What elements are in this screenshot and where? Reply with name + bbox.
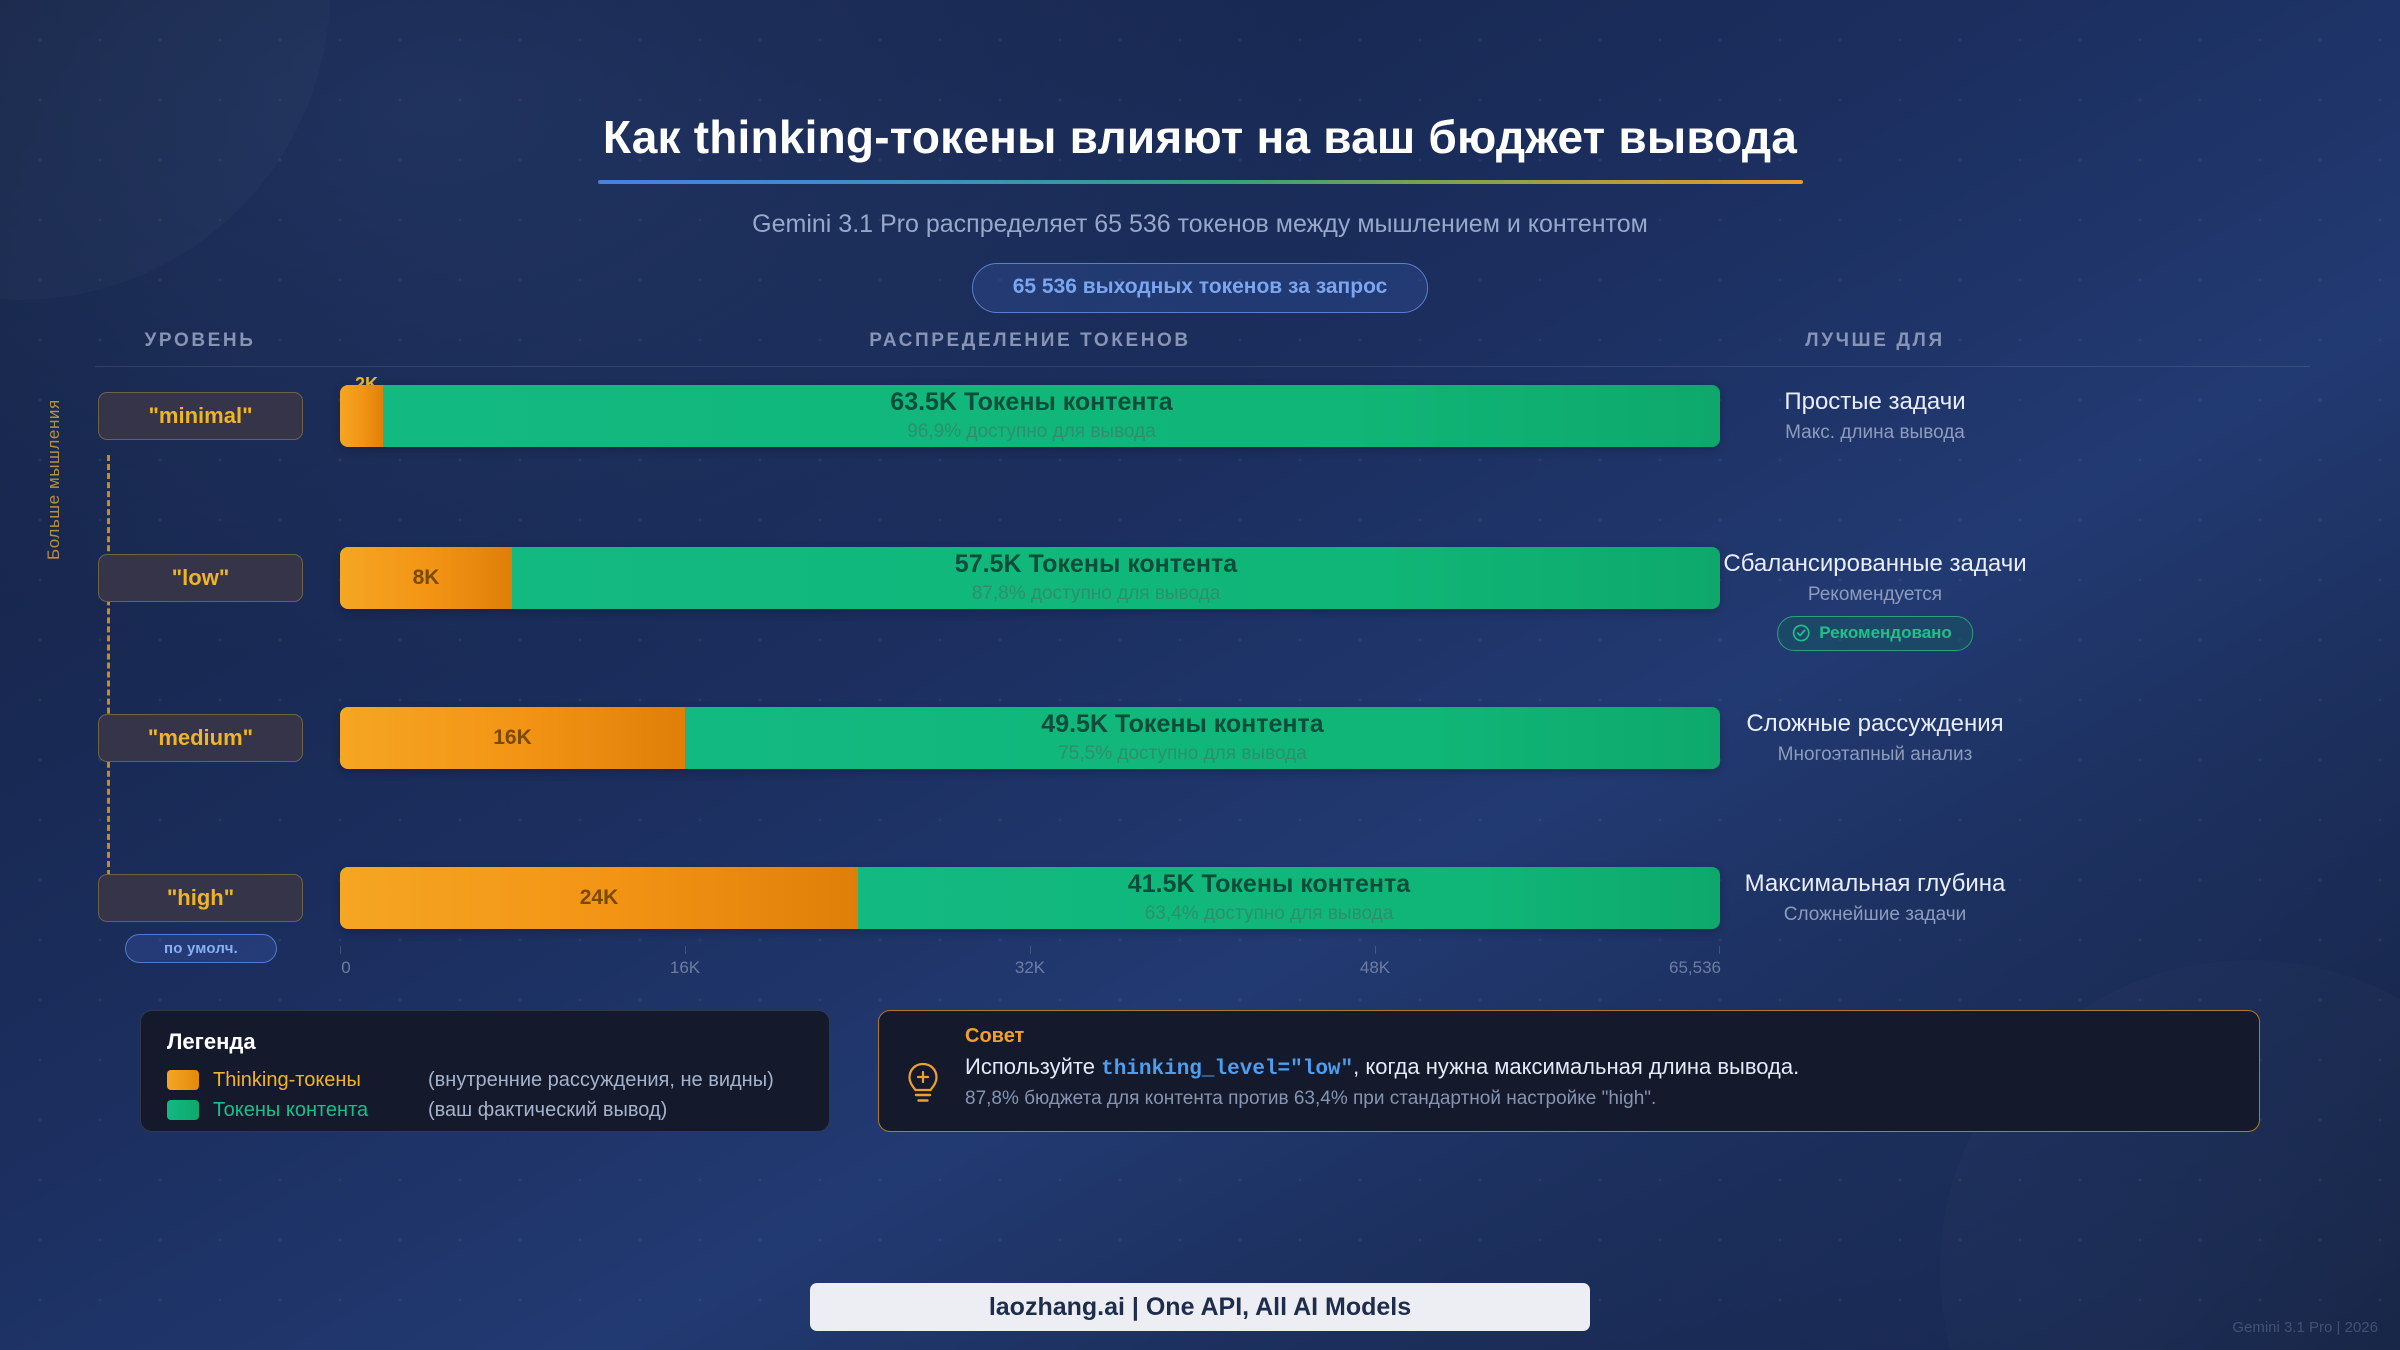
- best-for-title: Максимальная глубина: [1745, 870, 2006, 898]
- x-tick-16k: 16K: [670, 958, 700, 978]
- infographic-canvas: Как thinking-токены влияют на ваш бюджет…: [0, 0, 2400, 1350]
- legend-swatch-thinking: [167, 1070, 199, 1090]
- legend-item-thinking: Thinking-токены (внутренние рассуждения,…: [167, 1065, 803, 1095]
- bar-segment-content: 41.5K Токены контента 63,4% доступно для…: [858, 867, 1720, 929]
- legend-box: Легенда Thinking-токены (внутренние расс…: [140, 1010, 830, 1132]
- legend-swatch-content: [167, 1100, 199, 1120]
- bar-minimal[interactable]: 63.5K Токены контента 96,9% доступно для…: [340, 385, 1720, 447]
- footer-brand-bar[interactable]: laozhang.ai | One API, All AI Models: [810, 1283, 1590, 1331]
- default-badge: по умолч.: [125, 934, 277, 963]
- more-thinking-axis-line: [107, 455, 110, 885]
- best-for-title: Простые задачи: [1784, 388, 1965, 416]
- tip-main-text: Используйте thinking_level="low", когда …: [965, 1054, 2235, 1081]
- best-for-subtitle: Многоэтапный анализ: [1778, 744, 1973, 766]
- thinking-tokens-label: 8K: [413, 566, 440, 590]
- best-for-title: Сложные рассуждения: [1746, 710, 2003, 738]
- content-percent-label: 63,4% доступно для вывода: [1145, 901, 1394, 927]
- x-tick-48k: 48K: [1360, 958, 1390, 978]
- check-circle-icon: [1792, 624, 1810, 642]
- thinking-tokens-label: 24K: [580, 886, 619, 910]
- legend-name-content: Токены контента: [213, 1099, 428, 1122]
- x-axis: 0 16K 32K 48K 65,536: [340, 948, 1720, 982]
- bar-high[interactable]: 24K 41.5K Токены контента 63,4% доступно…: [340, 867, 1720, 929]
- tip-text-before: Используйте: [965, 1054, 1101, 1079]
- bar-low[interactable]: 8K 57.5K Токены контента 87,8% доступно …: [340, 547, 1720, 609]
- level-chip-minimal[interactable]: "minimal": [98, 392, 303, 440]
- best-for-subtitle: Рекомендуется: [1808, 584, 1942, 606]
- best-for-subtitle: Макс. длина вывода: [1785, 422, 1965, 444]
- legend-desc-content: (ваш фактический вывод): [428, 1099, 667, 1122]
- x-tick-32k: 32K: [1015, 958, 1045, 978]
- x-tick-max: 65,536: [1669, 958, 1721, 978]
- legend-item-content: Токены контента (ваш фактический вывод): [167, 1095, 803, 1125]
- content-tokens-label: 57.5K Токены контента: [955, 550, 1237, 578]
- x-tick-0: 0: [341, 958, 350, 978]
- recommended-badge-label: Рекомендовано: [1819, 623, 1952, 643]
- legend-desc-thinking: (внутренние рассуждения, не видны): [428, 1069, 774, 1092]
- bar-segment-content: 63.5K Токены контента 96,9% доступно для…: [383, 385, 1720, 447]
- bar-medium[interactable]: 16K 49.5K Токены контента 75,5% доступно…: [340, 707, 1720, 769]
- lightbulb-icon: [903, 1061, 943, 1109]
- thinking-tokens-label: 16K: [493, 726, 532, 750]
- level-chip-medium[interactable]: "medium": [98, 714, 303, 762]
- bar-segment-content: 57.5K Токены контента 87,8% доступно для…: [512, 547, 1720, 609]
- footer-brand-label: laozhang.ai | One API, All AI Models: [989, 1293, 1411, 1322]
- best-for-subtitle: Сложнейшие задачи: [1784, 904, 1967, 926]
- bar-segment-thinking: [340, 385, 383, 447]
- content-tokens-label: 63.5K Токены контента: [890, 388, 1172, 416]
- bar-segment-thinking: 24K: [340, 867, 858, 929]
- bar-segment-content: 49.5K Токены контента 75,5% доступно для…: [685, 707, 1720, 769]
- token-distribution-chart: Больше мышления 2K "minimal" 63.5K Токен…: [0, 0, 2400, 1350]
- tip-sub-text: 87,8% бюджета для контента против 63,4% …: [965, 1088, 2235, 1110]
- level-chip-high[interactable]: "high": [98, 874, 303, 922]
- level-chip-low[interactable]: "low": [98, 554, 303, 602]
- content-tokens-label: 41.5K Токены контента: [1128, 870, 1410, 898]
- more-thinking-label: Больше мышления: [44, 399, 64, 560]
- watermark: Gemini 3.1 Pro | 2026: [2232, 1319, 2378, 1336]
- best-for-title: Сбалансированные задачи: [1723, 550, 2026, 578]
- content-tokens-label: 49.5K Токены контента: [1041, 710, 1323, 738]
- tip-title: Совет: [965, 1025, 2235, 1048]
- tip-code-snippet: thinking_level="low": [1101, 1058, 1353, 1081]
- content-percent-label: 75,5% доступно для вывода: [1058, 741, 1307, 767]
- bar-segment-thinking: 16K: [340, 707, 685, 769]
- legend-title: Легенда: [167, 1029, 803, 1055]
- bar-segment-thinking: 8K: [340, 547, 512, 609]
- content-percent-label: 87,8% доступно для вывода: [972, 581, 1221, 607]
- tip-box: Совет Используйте thinking_level="low", …: [878, 1010, 2260, 1132]
- legend-name-thinking: Thinking-токены: [213, 1069, 428, 1092]
- tip-text-after: , когда нужна максимальная длина вывода.: [1353, 1054, 1799, 1079]
- recommended-badge: Рекомендовано: [1777, 616, 1973, 651]
- content-percent-label: 96,9% доступно для вывода: [907, 419, 1156, 445]
